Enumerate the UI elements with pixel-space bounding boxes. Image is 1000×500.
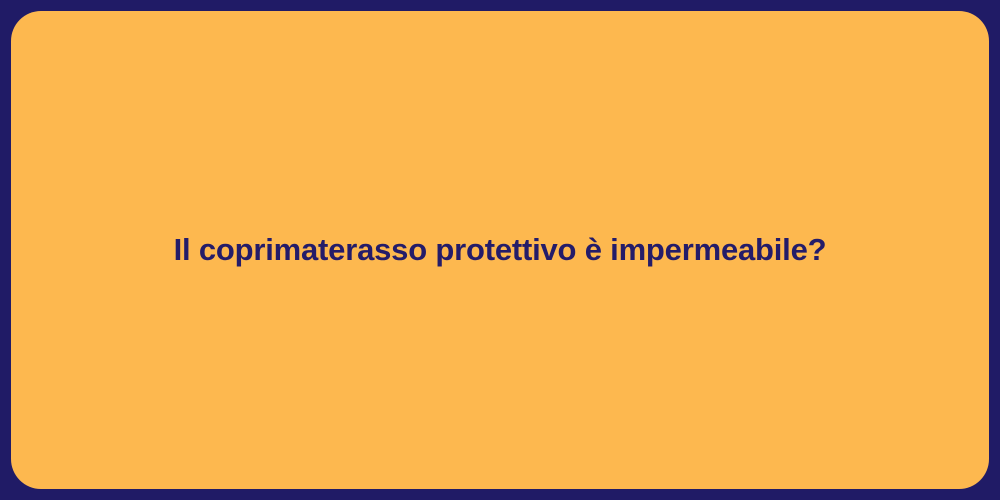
page-frame: Il coprimaterasso protettivo è impermeab… xyxy=(0,0,1000,500)
card-body: Il coprimaterasso protettivo è impermeab… xyxy=(11,231,989,270)
faq-card: Il coprimaterasso protettivo è impermeab… xyxy=(11,11,989,489)
question-heading: Il coprimaterasso protettivo è impermeab… xyxy=(174,231,827,270)
